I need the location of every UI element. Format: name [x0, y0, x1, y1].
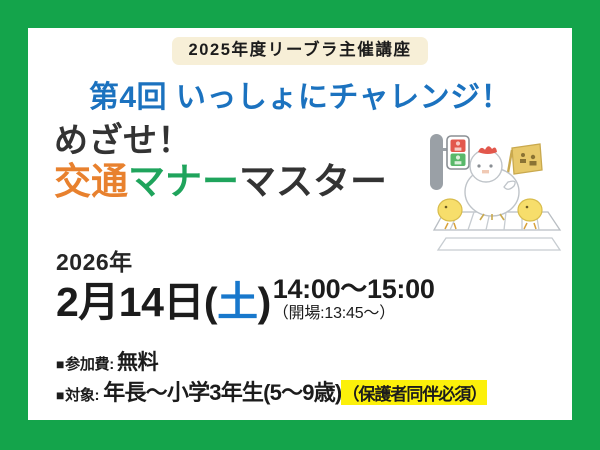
flag-symbol-body-2 — [530, 161, 537, 166]
date-time-row: 2月14日(土) 14:00〜15:00 （開場:13:45〜） — [56, 276, 435, 323]
bullet-square-icon: ■ — [56, 356, 64, 372]
traffic-light-pole — [430, 134, 443, 190]
event-time: 14:00〜15:00 — [273, 276, 435, 304]
green-figure-head — [456, 155, 460, 159]
event-year: 2026年 — [56, 250, 435, 275]
event-day-of-week-char: 土 — [217, 279, 258, 325]
chicken-eye-right — [489, 164, 492, 167]
target-line: ■対象: 年長〜小学3年生(5〜9歳) （保護者同伴必須） — [56, 375, 487, 407]
chick-right — [518, 199, 542, 221]
fee-line: ■参加費: 無料 — [56, 346, 158, 376]
target-value: 年長〜小学3年生(5〜9歳) — [103, 375, 341, 407]
target-label: ■対象: — [56, 384, 99, 405]
event-day-of-week: (土) — [204, 279, 271, 325]
chicken-crossing-illustration — [420, 126, 572, 258]
fee-label-text: 参加費: — [65, 356, 114, 373]
chicken-beak — [482, 170, 489, 173]
badge-row: 2025年度リーブラ主催講座 — [28, 37, 572, 65]
chicken-comb — [478, 146, 497, 154]
page-title: 第4回 いっしょにチャレンジ！ — [28, 72, 572, 116]
poster-content-panel: 2025年度リーブラ主催講座 第4回 いっしょにチャレンジ！ めざせ！ 交通マナ… — [28, 28, 572, 420]
chick-left — [438, 199, 462, 221]
headline-part-master: マスター — [239, 161, 387, 202]
time-wrap: 14:00〜15:00 （開場:13:45〜） — [273, 276, 435, 323]
doors-open-time: （開場:13:45〜） — [273, 305, 435, 323]
fee-value: 無料 — [117, 346, 158, 376]
chicken-eye-left — [477, 164, 480, 167]
headline-part-koutsuu: 交通 — [54, 161, 128, 202]
organizer-badge: 2025年度リーブラ主催講座 — [172, 37, 427, 65]
headline-part-manner: マナー — [128, 161, 239, 202]
red-figure-body — [455, 148, 462, 151]
chick-right-eye — [526, 206, 529, 209]
chicken-head — [470, 150, 502, 182]
poster-frame: 2025年度リーブラ主催講座 第4回 いっしょにチャレンジ！ めざせ！ 交通マナ… — [0, 0, 600, 450]
flag-symbol-body-1 — [520, 159, 526, 163]
flag-sign — [512, 144, 542, 174]
road-line — [438, 238, 560, 250]
flag-symbol-head-1 — [521, 153, 525, 157]
headline-line-1: めざせ！ — [54, 123, 387, 160]
headline-line-2: 交通マナーマスター — [54, 162, 387, 203]
bullet-square-icon-2: ■ — [56, 387, 64, 403]
green-figure-body — [455, 161, 462, 164]
guardian-required-note: （保護者同伴必須） — [341, 380, 487, 405]
fee-label: ■参加費: — [56, 353, 114, 374]
event-date: 2月14日(土) — [56, 282, 271, 323]
flag-symbol-head-2 — [531, 155, 535, 159]
schedule-block: 2026年 2月14日(土) 14:00〜15:00 （開場:13:45〜） — [56, 250, 435, 323]
red-figure-head — [456, 141, 460, 145]
headline-block: めざせ！ 交通マナーマスター — [54, 123, 387, 203]
target-label-text: 対象: — [65, 387, 99, 404]
event-date-md: 2月14日 — [56, 279, 204, 325]
chick-left-eye — [445, 206, 448, 209]
